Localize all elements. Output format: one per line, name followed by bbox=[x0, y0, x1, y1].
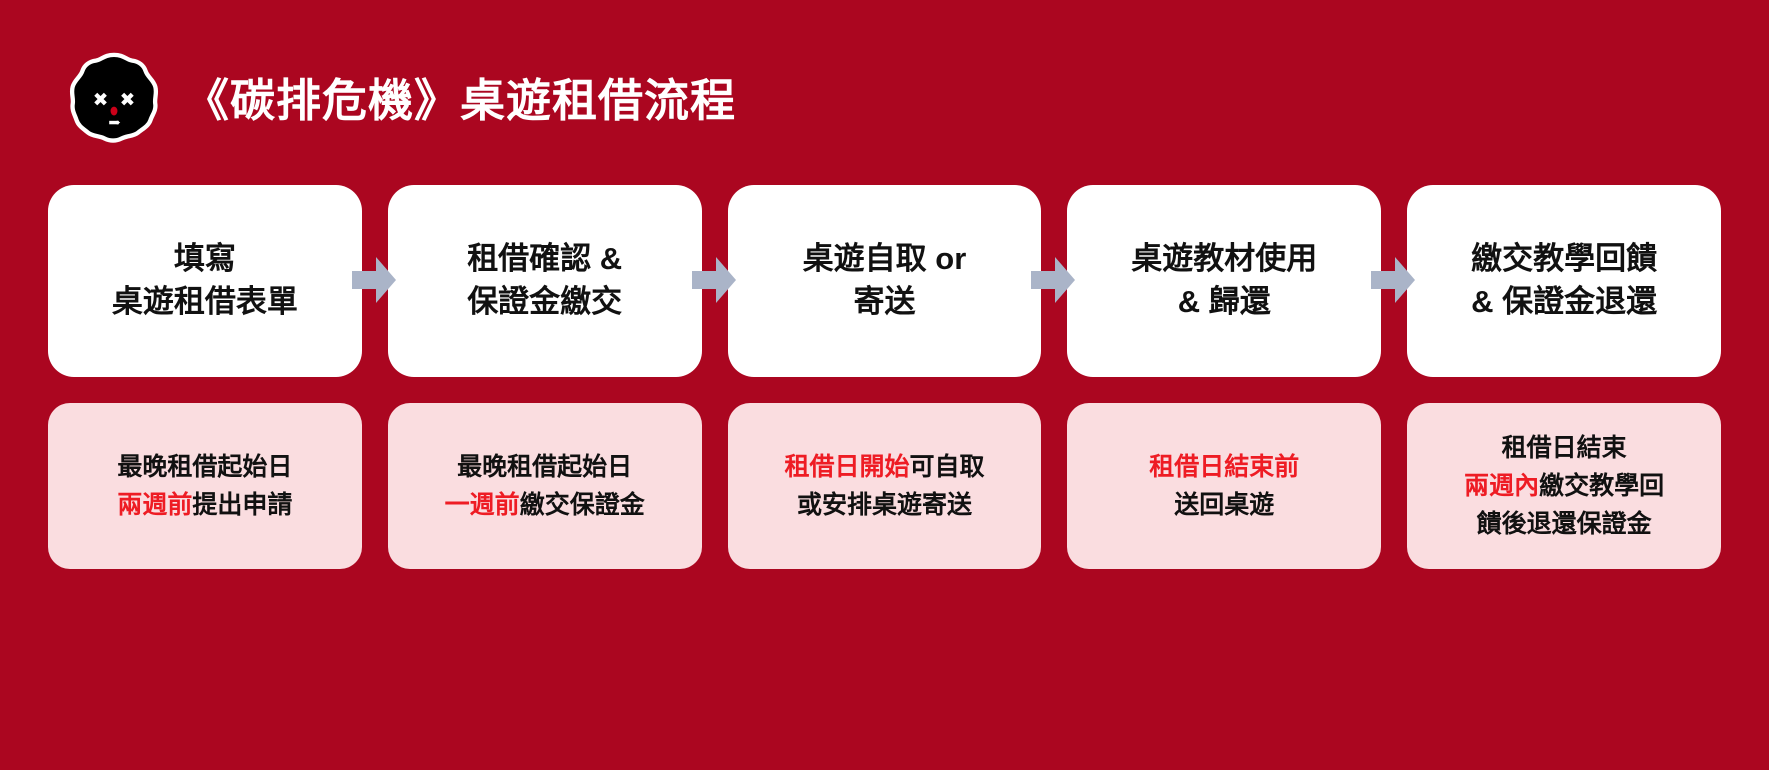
note-segment: 兩週前 bbox=[117, 491, 192, 519]
note-segment: 可自取 bbox=[909, 453, 984, 481]
note-segment: 一週前 bbox=[445, 491, 520, 519]
arrow-right-icon-2 bbox=[692, 257, 736, 303]
page-header: 《碳排危機》桌遊租借流程 bbox=[66, 52, 736, 148]
note-segment: 兩週內 bbox=[1464, 472, 1539, 500]
note-segment: 最晚租借起始日 bbox=[457, 453, 632, 481]
note-segment: 或安排桌遊寄送 bbox=[797, 491, 972, 519]
note-card-2: 最晚租借起始日一週前繳交保證金 bbox=[388, 403, 702, 569]
note-card-5: 租借日結束兩週內繳交教學回饋後退還保證金 bbox=[1407, 403, 1721, 569]
note-card-3-text: 租借日開始可自取或安排桌遊寄送 bbox=[784, 448, 984, 524]
note-segment: 繳交保證金 bbox=[520, 491, 645, 519]
note-card-3: 租借日開始可自取或安排桌遊寄送 bbox=[728, 403, 1042, 569]
note-segment: 提出申請 bbox=[192, 491, 292, 519]
note-segment: 繳交教學回 bbox=[1539, 472, 1664, 500]
step-card-2[interactable]: 租借確認 & 保證金繳交 bbox=[388, 185, 702, 377]
note-segment: 饋後退還保證金 bbox=[1477, 510, 1652, 538]
page-title: 《碳排危機》桌遊租借流程 bbox=[184, 78, 736, 123]
carbon-crisis-blob-mascot-icon bbox=[66, 52, 162, 148]
arrow-right-icon-4 bbox=[1371, 257, 1415, 303]
note-segment: 租借日結束前 bbox=[1149, 453, 1299, 481]
step-card-3-label: 桌遊自取 or 寄送 bbox=[803, 238, 967, 324]
note-card-4-text: 租借日結束前送回桌遊 bbox=[1149, 448, 1299, 524]
note-card-1-text: 最晚租借起始日兩週前提出申請 bbox=[117, 448, 292, 524]
note-card-5-text: 租借日結束兩週內繳交教學回饋後退還保證金 bbox=[1464, 429, 1664, 543]
step-card-5[interactable]: 繳交教學回饋 & 保證金退還 bbox=[1407, 185, 1721, 377]
rental-process-flow: 填寫 桌遊租借表單 最晚租借起始日兩週前提出申請 租借確認 & 保證金繳交 最晚… bbox=[48, 185, 1721, 569]
note-segment: 最晚租借起始日 bbox=[117, 453, 292, 481]
note-card-2-text: 最晚租借起始日一週前繳交保證金 bbox=[445, 448, 645, 524]
step-card-1-label: 填寫 桌遊租借表單 bbox=[112, 238, 298, 324]
note-card-4: 租借日結束前送回桌遊 bbox=[1067, 403, 1381, 569]
step-card-4[interactable]: 桌遊教材使用 & 歸還 bbox=[1067, 185, 1381, 377]
step-card-2-label: 租借確認 & 保證金繳交 bbox=[467, 238, 622, 324]
flow-column-5: 繳交教學回饋 & 保證金退還 租借日結束兩週內繳交教學回饋後退還保證金 bbox=[1407, 185, 1721, 569]
flow-column-2: 租借確認 & 保證金繳交 最晚租借起始日一週前繳交保證金 bbox=[388, 185, 702, 569]
step-card-5-label: 繳交教學回饋 & 保證金退還 bbox=[1471, 238, 1657, 324]
note-card-1: 最晚租借起始日兩週前提出申請 bbox=[48, 403, 362, 569]
step-card-3[interactable]: 桌遊自取 or 寄送 bbox=[728, 185, 1042, 377]
note-segment: 送回桌遊 bbox=[1174, 491, 1274, 519]
note-segment: 租借日開始 bbox=[784, 453, 909, 481]
note-segment: 租借日結束 bbox=[1502, 434, 1627, 462]
arrow-right-icon-1 bbox=[352, 257, 396, 303]
flow-column-4: 桌遊教材使用 & 歸還 租借日結束前送回桌遊 bbox=[1067, 185, 1381, 569]
step-card-4-label: 桌遊教材使用 & 歸還 bbox=[1131, 238, 1317, 324]
flow-column-3: 桌遊自取 or 寄送 租借日開始可自取或安排桌遊寄送 bbox=[728, 185, 1042, 569]
step-card-1[interactable]: 填寫 桌遊租借表單 bbox=[48, 185, 362, 377]
flow-column-1: 填寫 桌遊租借表單 最晚租借起始日兩週前提出申請 bbox=[48, 185, 362, 569]
arrow-right-icon-3 bbox=[1031, 257, 1075, 303]
